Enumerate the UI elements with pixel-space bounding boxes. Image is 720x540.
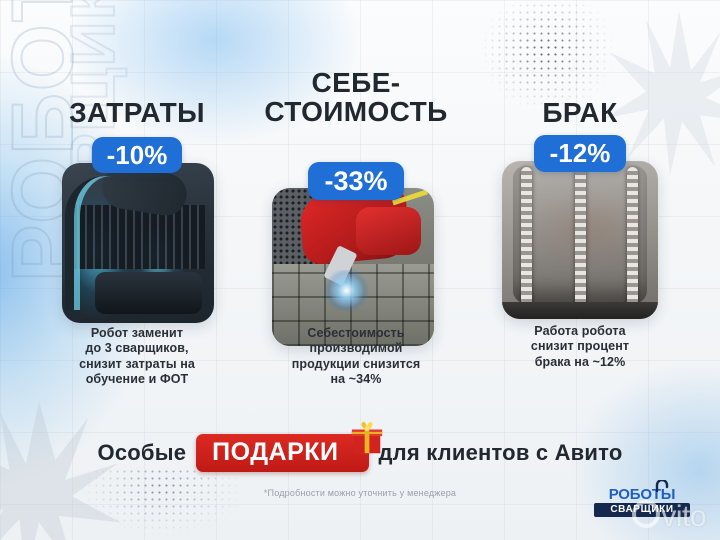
blue-welding-robot-photo	[62, 163, 214, 323]
caption-cost-price: Себестоимость производимой продукции сни…	[242, 326, 470, 387]
badge-cost-price: -33%	[308, 162, 404, 200]
gift-banner: Особые ПОДАРКИ для клиентов с Авито	[0, 430, 720, 476]
hook-icon	[654, 479, 674, 491]
card-title-cost-price: СЕБЕ- СТОИМОСТЬ	[256, 68, 456, 126]
gift-banner-prefix: Особые	[98, 440, 187, 466]
weld-seam-plate-photo	[502, 161, 658, 319]
metric-card-defects: БРАК -12% Работа робота снизит процент б…	[488, 98, 672, 323]
caption-costs: Робот заменит до 3 сварщиков, снизит зат…	[30, 326, 244, 387]
red-welding-robot-photo	[272, 188, 434, 346]
gift-box-icon	[348, 421, 386, 457]
card-title-defects: БРАК	[488, 98, 672, 127]
gift-pill-label: ПОДАРКИ	[212, 438, 338, 466]
caption-defects: Работа робота снизит процент брака на ~1…	[476, 324, 684, 370]
avito-o-ring-icon	[632, 500, 660, 528]
gift-banner-suffix: для клиентов с Авито	[379, 440, 623, 466]
badge-defects: -12%	[534, 135, 626, 172]
avito-watermark-text: vito	[661, 500, 706, 533]
gift-pill[interactable]: ПОДАРКИ	[196, 434, 368, 472]
badge-costs: -10%	[92, 137, 182, 173]
card-title-costs: ЗАТРАТЫ	[38, 98, 236, 127]
metric-card-costs: ЗАТРАТЫ -10% Робот заменит до 3 сварщико…	[38, 98, 236, 325]
promo-poster: РОБОТ СВАРЩИК ЗАТРАТЫ	[0, 0, 720, 540]
avito-watermark: vito	[632, 500, 706, 534]
metric-card-cost-price: СЕБЕ- СТОИМОСТЬ -33% Себестоимость произ…	[256, 68, 456, 322]
